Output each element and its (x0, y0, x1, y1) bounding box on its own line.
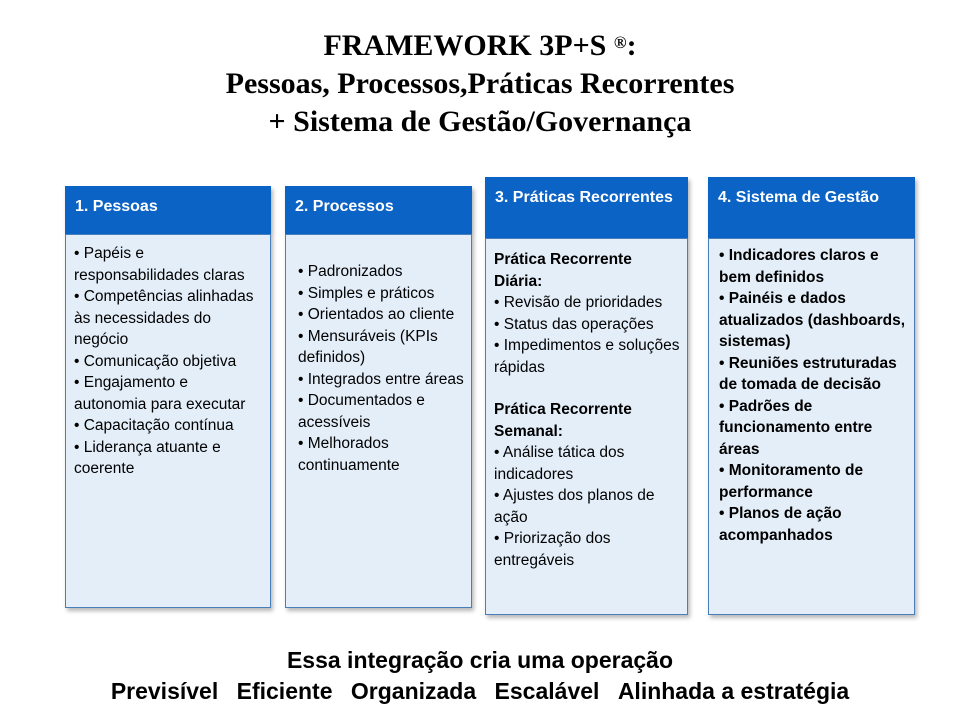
footer-word-previsivel: Previsível (111, 678, 218, 704)
list-item: • Análise tática dos indicadores (494, 442, 681, 485)
list-item: • Liderança atuante e coerente (74, 437, 264, 480)
list-item: • Engajamento e autonomia para executar (74, 372, 264, 415)
framework-columns: 1. Pessoas • Papéis e responsabilidades … (0, 0, 960, 720)
list-item: • Indicadores claros e bem definidos (719, 245, 908, 288)
footer-line-2: Previsível Eficiente Organizada Escaláve… (0, 675, 960, 707)
subheading-weekly: Prática Recorrente Semanal: (494, 399, 681, 442)
list-item: • Impedimentos e soluções rápidas (494, 335, 681, 378)
list-item: • Padrões de funcionamento entre áreas (719, 396, 908, 461)
footer-word-eficiente: Eficiente (237, 678, 333, 704)
column-pessoas[interactable]: 1. Pessoas • Papéis e responsabilidades … (65, 186, 271, 608)
section-spacer (494, 378, 681, 399)
list-item: • Priorização dos entregáveis (494, 528, 681, 571)
list-item: • Documentados e acessíveis (298, 390, 465, 433)
list-item: • Planos de ação acompanhados (719, 503, 908, 546)
column-processos-header: 2. Processos (285, 186, 472, 234)
column-praticas-recorrentes[interactable]: 3. Práticas Recorrentes Prática Recorren… (485, 177, 688, 615)
subheading-daily: Prática Recorrente Diária: (494, 249, 681, 292)
list-item: • Melhorados continuamente (298, 433, 465, 476)
column-pessoas-header: 1. Pessoas (65, 186, 271, 234)
list-item: • Revisão de prioridades (494, 292, 681, 314)
list-item: • Reuniões estruturadas de tomada de dec… (719, 353, 908, 396)
footer-statement: Essa integração cria uma operação Previs… (0, 645, 960, 707)
list-item: • Monitoramento de performance (719, 460, 908, 503)
list-item: • Status das operações (494, 314, 681, 336)
column-sistema-de-gestao-header: 4. Sistema de Gestão (708, 177, 915, 238)
list-item: • Ajustes dos planos de ação (494, 485, 681, 528)
column-pessoas-body: • Papéis e responsabilidades claras • Co… (65, 234, 271, 608)
footer-word-escalavel: Escalável (495, 678, 600, 704)
column-processos[interactable]: 2. Processos • Padronizados • Simples e … (285, 186, 472, 608)
list-item: • Padronizados (298, 261, 465, 283)
column-processos-body: • Padronizados • Simples e práticos • Or… (285, 234, 472, 608)
column-praticas-recorrentes-body: Prática Recorrente Diária: • Revisão de … (485, 238, 688, 615)
footer-line-1: Essa integração cria uma operação (0, 645, 960, 675)
list-item: • Papéis e responsabilidades claras (74, 243, 264, 286)
list-item: • Orientados ao cliente (298, 304, 465, 326)
list-item: • Comunicação objetiva (74, 351, 264, 373)
list-item: • Competências alinhadas às necessidades… (74, 286, 264, 351)
column-sistema-de-gestao-body: • Indicadores claros e bem definidos • P… (708, 238, 915, 615)
footer-word-alinhada: Alinhada a estratégia (618, 678, 849, 704)
list-item: • Simples e práticos (298, 283, 465, 305)
list-item: • Capacitação contínua (74, 415, 264, 437)
column-praticas-recorrentes-header: 3. Práticas Recorrentes (485, 177, 688, 238)
footer-word-organizada: Organizada (351, 678, 476, 704)
column-sistema-de-gestao[interactable]: 4. Sistema de Gestão • Indicadores claro… (708, 177, 915, 615)
list-item: • Mensuráveis (KPIs definidos) (298, 326, 465, 369)
list-item: • Integrados entre áreas (298, 369, 465, 391)
list-item: • Painéis e dados atualizados (dashboard… (719, 288, 908, 353)
